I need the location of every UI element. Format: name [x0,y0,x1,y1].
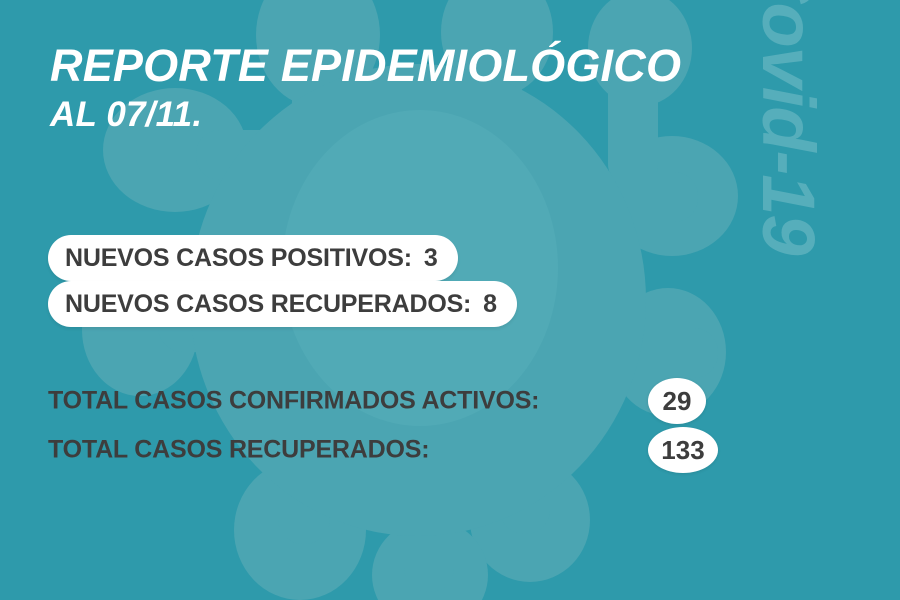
virus-spike-knob [234,460,366,600]
virus-spike-stalk [404,488,454,592]
totals-group: TOTAL CASOS CONFIRMADOS ACTIVOS: 29 TOTA… [48,378,728,473]
virus-spike-knob [470,458,590,582]
new-recovered-cases-pill: NUEVOS CASOS RECUPERADOS: 8 [48,281,517,327]
epidemiological-report-poster: Covid-19 REPORTE EPIDEMIOLÓGICO AL 07/11… [0,0,900,600]
total-active-cases-label: TOTAL CASOS CONFIRMADOS ACTIVOS: [48,389,539,414]
page-title: REPORTE EPIDEMIOLÓGICO [50,42,681,91]
headline-block: REPORTE EPIDEMIOLÓGICO AL 07/11. [50,42,681,133]
virus-spike-stalk [600,328,718,378]
new-cases-group: NUEVOS CASOS POSITIVOS: 3 NUEVOS CASOS R… [48,235,517,327]
new-positive-cases-pill: NUEVOS CASOS POSITIVOS: 3 [48,235,458,281]
virus-spike-knob [372,519,488,600]
total-active-cases-row: TOTAL CASOS CONFIRMADOS ACTIVOS: 29 [48,378,728,424]
virus-spike-stalk [588,172,698,222]
new-recovered-cases-label: NUEVOS CASOS RECUPERADOS: [65,292,471,317]
new-recovered-cases-value: 8 [483,292,497,317]
total-active-cases-badge: 29 [648,378,706,424]
new-positive-cases-value: 3 [424,246,438,271]
new-positive-cases-label: NUEVOS CASOS POSITIVOS: [65,246,412,271]
page-subtitle: AL 07/11. [50,97,681,134]
virus-spike-stalk [196,130,314,180]
covid-19-watermark: Covid-19 [738,0,838,330]
covid-19-watermark-text: Covid-19 [751,0,825,255]
total-recovered-cases-badge: 133 [648,427,718,473]
virus-spike-knob [606,136,738,256]
total-recovered-cases-label: TOTAL CASOS RECUPERADOS: [48,438,429,463]
total-recovered-cases-row: TOTAL CASOS RECUPERADOS: 133 [48,427,728,473]
